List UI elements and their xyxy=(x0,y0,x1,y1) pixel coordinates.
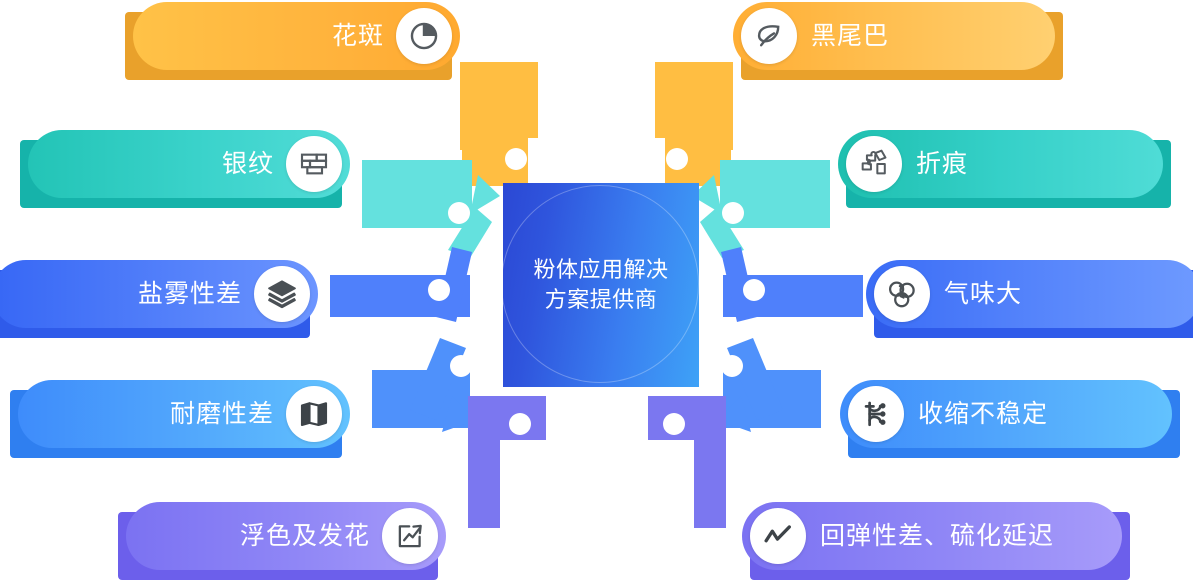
connector-naimoxingcha xyxy=(372,338,476,432)
connector-shousuobuwending xyxy=(717,338,821,432)
center-hub: 粉体应用解决 方案提供商 xyxy=(503,183,699,387)
leaf-icon xyxy=(741,8,797,64)
node-label: 气味大 xyxy=(944,282,1022,307)
node-yanwuxingcha[interactable]: 盐雾性差 xyxy=(0,260,318,328)
brick-wall-icon xyxy=(286,136,342,192)
node-yinwen[interactable]: 银纹 xyxy=(28,130,350,198)
growth-arrow-icon xyxy=(382,508,438,564)
node-tree-icon xyxy=(848,386,904,442)
node-zhehen[interactable]: 折痕 xyxy=(838,130,1163,198)
node-heiweiba[interactable]: 黑尾巴 xyxy=(733,2,1055,70)
pill-body: 收缩不稳定 xyxy=(840,380,1172,448)
node-label: 折痕 xyxy=(916,152,968,177)
diagram-canvas: 粉体应用解决 方案提供商 花斑 xyxy=(0,0,1193,577)
pill-body: 花斑 xyxy=(133,2,460,70)
node-label: 收缩不稳定 xyxy=(918,402,1048,427)
node-label: 回弹性差、硫化延迟 xyxy=(820,524,1054,549)
center-label-line2: 方案提供商 xyxy=(545,285,658,315)
connector-fusejifahua xyxy=(468,396,546,528)
pill-body: 折痕 xyxy=(838,130,1163,198)
pill-body: 黑尾巴 xyxy=(733,2,1055,70)
node-shousuobuwending[interactable]: 收缩不稳定 xyxy=(840,380,1172,448)
connector-qiweida xyxy=(721,247,863,322)
center-label: 粉体应用解决 方案提供商 xyxy=(503,183,699,387)
puzzle-piece-icon xyxy=(846,136,902,192)
line-chart-icon xyxy=(750,508,806,564)
pill-body: 气味大 xyxy=(866,260,1193,328)
open-book-icon xyxy=(286,386,342,442)
pill-body: 耐磨性差 xyxy=(18,380,350,448)
node-label: 黑尾巴 xyxy=(811,24,889,49)
node-label: 银纹 xyxy=(222,152,274,177)
layers-icon xyxy=(254,266,310,322)
node-naimoxingcha[interactable]: 耐磨性差 xyxy=(18,380,350,448)
pill-body: 盐雾性差 xyxy=(0,260,318,328)
connector-yanwuxingcha xyxy=(330,247,472,322)
node-fusejifahua[interactable]: 浮色及发花 xyxy=(126,502,446,570)
pie-chart-icon xyxy=(396,8,452,64)
pill-body: 浮色及发花 xyxy=(126,502,446,570)
node-qiweida[interactable]: 气味大 xyxy=(866,260,1193,328)
node-label: 盐雾性差 xyxy=(138,282,242,307)
connector-huitanxingcha xyxy=(648,396,726,528)
center-label-line1: 粉体应用解决 xyxy=(533,255,668,285)
pill-body: 银纹 xyxy=(28,130,350,198)
recycle-icon xyxy=(874,266,930,322)
node-label: 花斑 xyxy=(332,24,384,49)
node-huaban[interactable]: 花斑 xyxy=(133,2,460,70)
node-label: 耐磨性差 xyxy=(170,402,274,427)
pill-body: 回弹性差、硫化延迟 xyxy=(742,502,1122,570)
node-label: 浮色及发花 xyxy=(240,524,370,549)
node-huitanxingcha[interactable]: 回弹性差、硫化延迟 xyxy=(742,502,1122,570)
